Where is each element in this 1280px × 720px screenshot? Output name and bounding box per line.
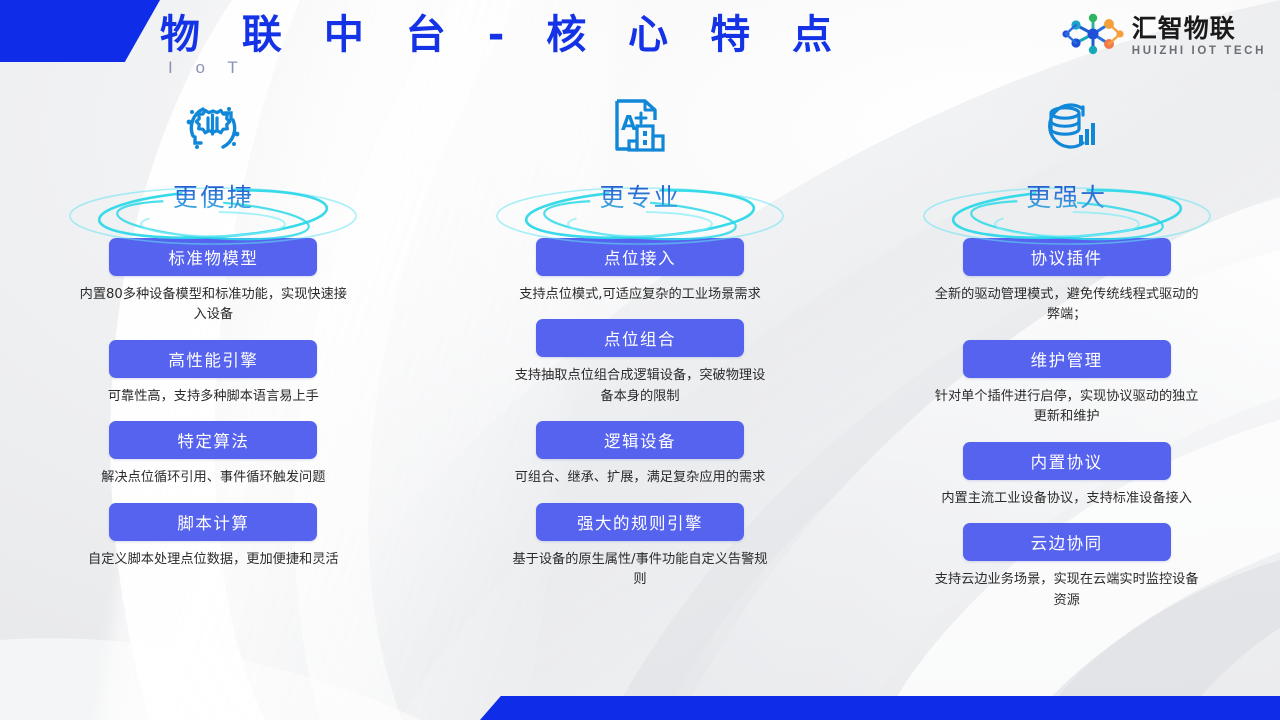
feature-column-2: A 更专业 xyxy=(427,92,854,625)
feature-item: 协议插件 全新的驱动管理模式，避免传统线程式驱动的弊端； xyxy=(853,238,1280,326)
feature-description: 支持抽取点位组合成逻辑设备，突破物理设备本身的限制 xyxy=(509,366,771,407)
feature-description: 全新的驱动管理模式，避免传统线程式驱动的弊端； xyxy=(933,285,1201,326)
feature-pill[interactable]: 脚本计算 xyxy=(109,503,317,541)
corner-accent-bottom-right xyxy=(480,696,1280,720)
feature-description: 内置主流工业设备协议，支持标准设备接入 xyxy=(933,489,1201,509)
feature-item: 特定算法 解决点位循环引用、事件循环触发问题 xyxy=(0,421,427,488)
feature-pill[interactable]: 强大的规则引擎 xyxy=(536,503,744,541)
page-title: 物 联 中 台 - 核 心 特 点 xyxy=(160,10,846,60)
feature-description: 可靠性高，支持多种脚本语言易上手 xyxy=(78,387,348,407)
feature-pill[interactable]: 云边协同 xyxy=(963,523,1171,561)
feature-description: 基于设备的原生属性/事件功能自定义告警规则 xyxy=(509,550,771,591)
feature-pill[interactable]: 特定算法 xyxy=(109,421,317,459)
feature-item: 云边协同 支持云边业务场景，实现在云端实时监控设备资源 xyxy=(853,523,1280,611)
feature-list: 协议插件 全新的驱动管理模式，避免传统线程式驱动的弊端； 维护管理 针对单个插件… xyxy=(853,238,1280,625)
feature-description: 支持云边业务场景，实现在云端实时监控设备资源 xyxy=(933,570,1201,611)
feature-description: 支持点位模式,可适应复杂的工业场景需求 xyxy=(509,285,771,305)
page-subtitle: I o T xyxy=(168,58,846,78)
slide-canvas: 物 联 中 台 - 核 心 特 点 I o T xyxy=(0,0,1280,720)
page-title-group: 物 联 中 台 - 核 心 特 点 I o T xyxy=(160,10,846,78)
brand-name-en: HUIZHI IOT TECH xyxy=(1132,46,1266,58)
feature-item: 脚本计算 自定义脚本处理点位数据，更加便捷和灵活 xyxy=(0,503,427,570)
logo-network-icon xyxy=(1062,12,1124,61)
feature-description: 针对单个插件进行启停，实现协议驱动的独立更新和维护 xyxy=(933,387,1201,428)
feature-item: 维护管理 针对单个插件进行启停，实现协议驱动的独立更新和维护 xyxy=(853,340,1280,428)
feature-pill[interactable]: 维护管理 xyxy=(963,340,1171,378)
feature-columns: 更便捷 标准物模型 内置80多种设备模型和标准功能，实现快速接入设备 高性能引擎… xyxy=(0,92,1280,625)
column-heading: 更专业 xyxy=(599,176,680,216)
feature-item: 点位组合 支持抽取点位组合成逻辑设备，突破物理设备本身的限制 xyxy=(427,319,854,407)
feature-pill[interactable]: 内置协议 xyxy=(963,442,1171,480)
feature-item: 高性能引擎 可靠性高，支持多种脚本语言易上手 xyxy=(0,340,427,407)
column-heading: 更便捷 xyxy=(173,176,254,216)
column-heading: 更强大 xyxy=(1026,176,1107,216)
feature-description: 内置80多种设备模型和标准功能，实现快速接入设备 xyxy=(78,285,348,326)
feature-item: 逻辑设备 可组合、继承、扩展，满足复杂应用的需求 xyxy=(427,421,854,488)
feature-pill[interactable]: 点位组合 xyxy=(536,319,744,357)
feature-column-1: 更便捷 标准物模型 内置80多种设备模型和标准功能，实现快速接入设备 高性能引擎… xyxy=(0,92,427,625)
brand-name-cn: 汇智物联 xyxy=(1132,16,1266,41)
feature-pill[interactable]: 逻辑设备 xyxy=(536,421,744,459)
svg-text:A: A xyxy=(621,111,637,135)
feature-item: 内置协议 内置主流工业设备协议，支持标准设备接入 xyxy=(853,442,1280,509)
feature-item: 强大的规则引擎 基于设备的原生属性/事件功能自定义告警规则 xyxy=(427,503,854,591)
gear-brain-icon xyxy=(174,92,252,164)
feature-column-3: 更强大 协议插件 全新的驱动管理模式，避免传统线程式驱动的弊端； 维护管理 针对… xyxy=(853,92,1280,625)
database-chart-icon xyxy=(1028,92,1106,164)
feature-pill[interactable]: 高性能引擎 xyxy=(109,340,317,378)
document-aplus-icon: A xyxy=(601,92,679,164)
feature-list: 点位接入 支持点位模式,可适应复杂的工业场景需求 点位组合 支持抽取点位组合成逻… xyxy=(427,238,854,605)
feature-item: 标准物模型 内置80多种设备模型和标准功能，实现快速接入设备 xyxy=(0,238,427,326)
brand-text: 汇智物联 HUIZHI IOT TECH xyxy=(1132,16,1266,58)
feature-list: 标准物模型 内置80多种设备模型和标准功能，实现快速接入设备 高性能引擎 可靠性… xyxy=(0,238,427,584)
feature-description: 解决点位循环引用、事件循环触发问题 xyxy=(78,468,348,488)
brand-logo: 汇智物联 HUIZHI IOT TECH xyxy=(1062,12,1266,61)
feature-description: 可组合、继承、扩展，满足复杂应用的需求 xyxy=(509,468,771,488)
feature-description: 自定义脚本处理点位数据，更加便捷和灵活 xyxy=(78,550,348,570)
